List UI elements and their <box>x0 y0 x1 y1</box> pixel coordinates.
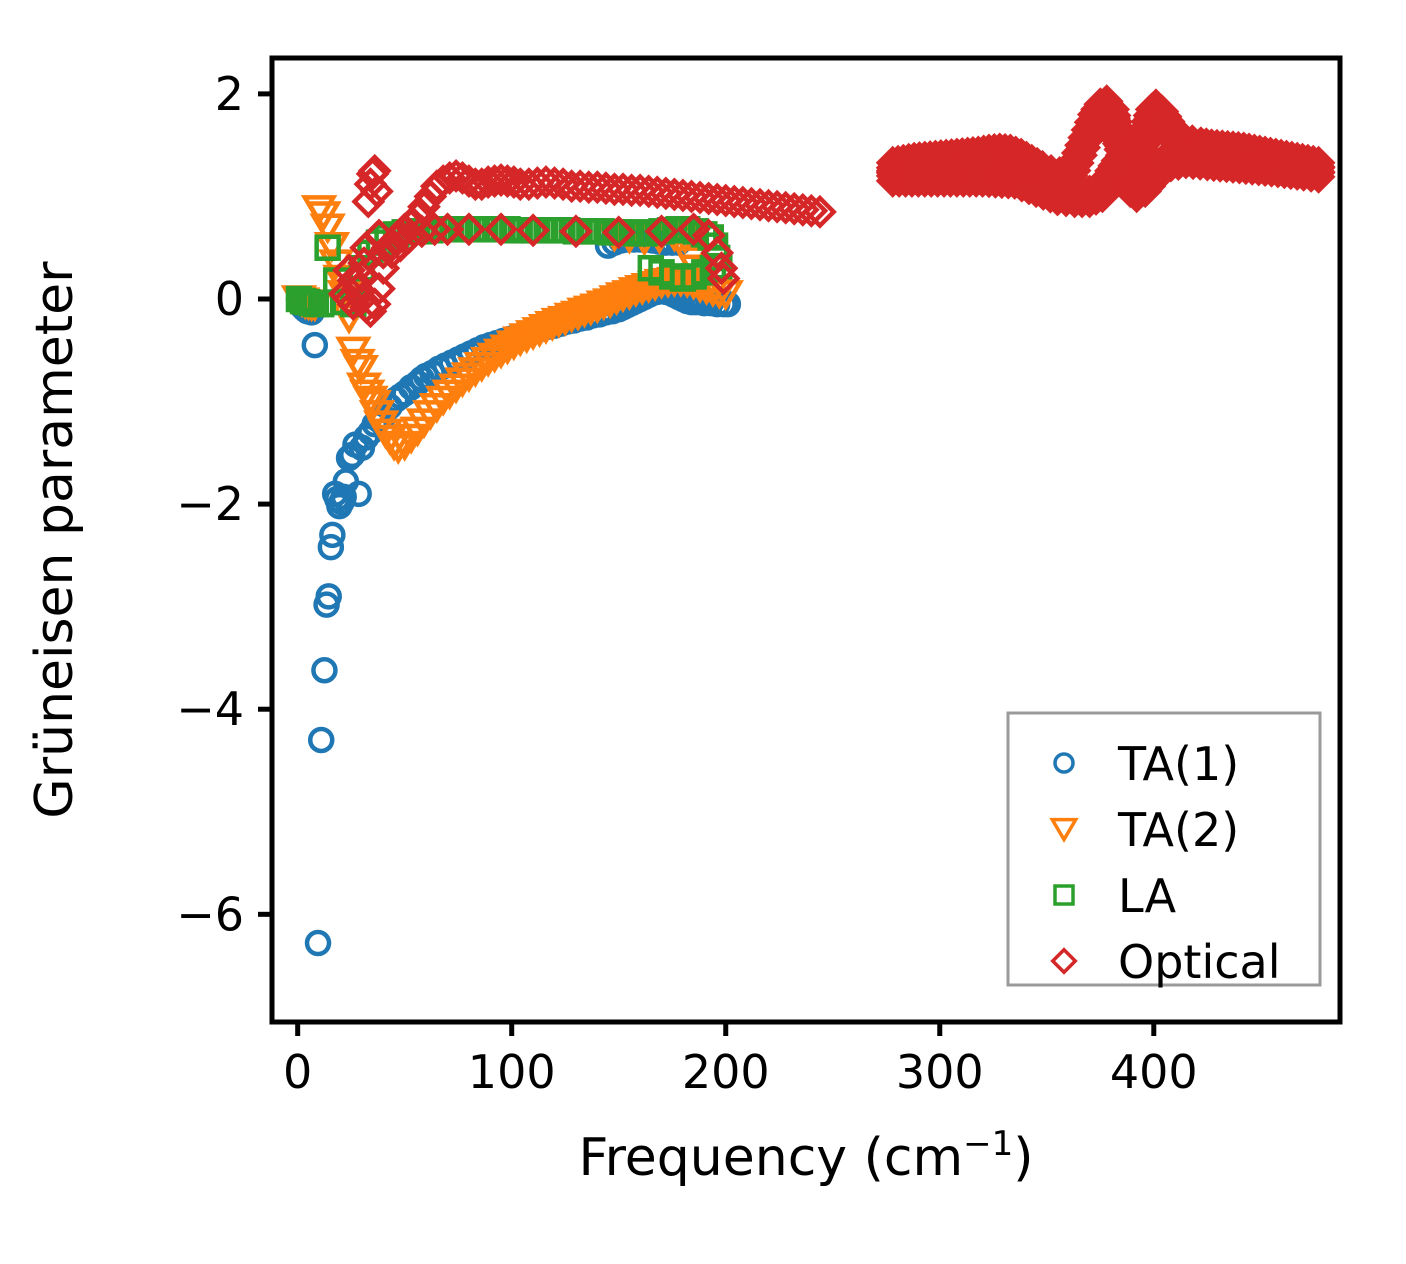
figure-canvas: 0100200300400 20−2−4−6 Frequency (cm−1) … <box>0 0 1406 1264</box>
y-tick-label: −6 <box>176 887 244 941</box>
legend-label-la[interactable]: LA <box>1118 869 1177 923</box>
legend[interactable]: TA(1)TA(2)LAOptical <box>1008 713 1320 989</box>
y-tick-label: −4 <box>176 682 244 736</box>
y-tick-label: 2 <box>215 67 244 121</box>
legend-label-ta1[interactable]: TA(1) <box>1117 737 1239 791</box>
x-tick-label: 200 <box>682 1045 770 1099</box>
x-tick-label: 0 <box>283 1045 312 1099</box>
x-tick-label: 300 <box>896 1045 984 1099</box>
y-tick-label: 0 <box>215 272 244 326</box>
scatter-plot: 0100200300400 20−2−4−6 Frequency (cm−1) … <box>0 0 1406 1264</box>
y-axis-label: Grüneisen parameter <box>25 261 85 819</box>
legend-label-optical[interactable]: Optical <box>1118 935 1280 989</box>
legend-label-ta2[interactable]: TA(2) <box>1117 803 1239 857</box>
y-tick-label: −2 <box>176 477 244 531</box>
x-tick-label: 400 <box>1110 1045 1198 1099</box>
x-tick-label: 100 <box>468 1045 556 1099</box>
